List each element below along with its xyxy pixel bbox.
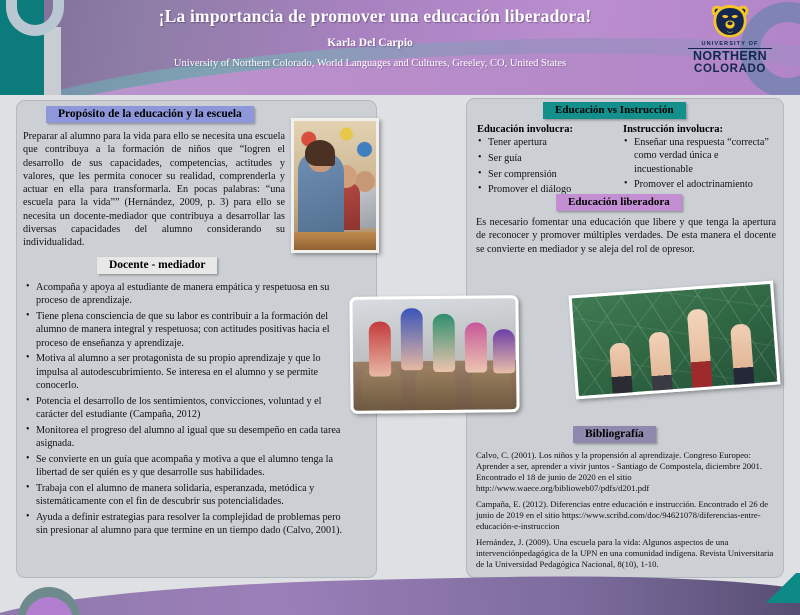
list-item: Ser comprensión — [477, 168, 613, 181]
page-title: ¡La importancia de promover una educació… — [0, 6, 800, 27]
list-item: Potencia el desarrollo de los sentimient… — [25, 395, 343, 422]
footer-band-purple — [0, 573, 800, 615]
section-header-educacion-vs-instruccion-wrapper: Educación vs Instrucción — [543, 100, 686, 119]
reference-entry: Calvo, C. (2001). Los niños y la propens… — [476, 450, 778, 494]
reference-entry: Campaña, E. (2012). Diferencias entre ed… — [476, 499, 778, 532]
instruccion-subhead: Instrucción involucra: — [623, 124, 777, 135]
list-item: Enseñar una respuesta “correcta” como ve… — [623, 136, 777, 176]
footer-teal-triangle — [766, 573, 800, 603]
educacion-bullet-list: Tener apertura Ser guía Ser comprensión … — [477, 136, 613, 197]
list-item: Promover el adoctrinamiento — [623, 178, 777, 191]
list-item: Monitorea el progreso del alumno al igua… — [25, 424, 343, 451]
educacion-column: Educación involucra: Tener apertura Ser … — [477, 124, 613, 199]
list-item: Motiva al alumno a ser protagonista de s… — [25, 352, 343, 392]
section-header-bibliografia: Bibliografía — [573, 426, 656, 443]
instruccion-column: Instrucción involucra: Enseñar una respu… — [623, 124, 777, 199]
section-header-bibliografia-wrapper: Bibliografía — [573, 424, 656, 443]
section-header-educacion-liberadora: Educación liberadora — [556, 194, 682, 211]
author-affiliation: University of Northern Colorado, World L… — [0, 58, 800, 69]
section-header-educacion-liberadora-wrapper: Educación liberadora — [556, 192, 682, 211]
list-item: Trabaja con el alumno de manera solidari… — [25, 482, 343, 509]
educacion-vs-instruccion-columns: Educación involucra: Tener apertura Ser … — [477, 124, 777, 199]
chalkboard-hands-photo — [568, 281, 780, 400]
poster-header: ¡La importancia de promover una educació… — [0, 0, 800, 95]
educacion-liberadora-body-text: Es necesario fomentar una educación que … — [476, 216, 776, 256]
educacion-subhead: Educación involucra: — [477, 124, 613, 135]
list-item: Se convierte en un guía que acompaña y m… — [25, 453, 343, 480]
docente-bullet-list: Acompaña y apoya al estudiante de manera… — [25, 281, 343, 540]
unc-logo: UNIVERSITY OF NORTHERN COLORADO — [682, 3, 778, 75]
list-item: Acompaña y apoya al estudiante de manera… — [25, 281, 343, 308]
list-item: Tiene plena consciencia de que su labor … — [25, 310, 343, 350]
instruccion-bullet-list: Enseñar una respuesta “correcta” como ve… — [623, 136, 777, 192]
section-header-docente: Docente - mediador — [97, 257, 217, 274]
section-header-docente-wrapper: Docente - mediador — [97, 255, 217, 274]
bear-mascot-icon — [710, 3, 750, 40]
poster-canvas: ¡La importancia de promover una educació… — [0, 0, 800, 615]
footer-decoration — [0, 573, 800, 615]
header-text-group: ¡La importancia de promover una educació… — [0, 0, 800, 69]
author-name: Karla Del Carpio — [0, 37, 800, 49]
list-item: Ayuda a definir estrategias para resolve… — [25, 511, 343, 538]
section-header-proposito-wrapper: Propósito de la educación y la escuela — [46, 104, 254, 123]
proposito-body-text: Preparar al alumno para la vida para ell… — [23, 130, 285, 249]
logo-university-line: UNIVERSITY OF — [682, 41, 778, 47]
painted-hands-photo — [349, 295, 519, 414]
section-header-educacion-vs-instruccion: Educación vs Instrucción — [543, 102, 686, 119]
list-item: Tener apertura — [477, 136, 613, 149]
reference-entry: Hernández, J. (2009). Una escuela para l… — [476, 537, 778, 570]
classroom-teacher-photo — [291, 118, 379, 253]
section-header-proposito: Propósito de la educación y la escuela — [46, 106, 254, 123]
logo-name-line1: NORTHERN — [682, 50, 778, 63]
logo-name-line2: COLORADO — [682, 63, 778, 75]
list-item: Ser guía — [477, 152, 613, 165]
bibliografia-reference-list: Calvo, C. (2001). Los niños y la propens… — [476, 450, 778, 575]
